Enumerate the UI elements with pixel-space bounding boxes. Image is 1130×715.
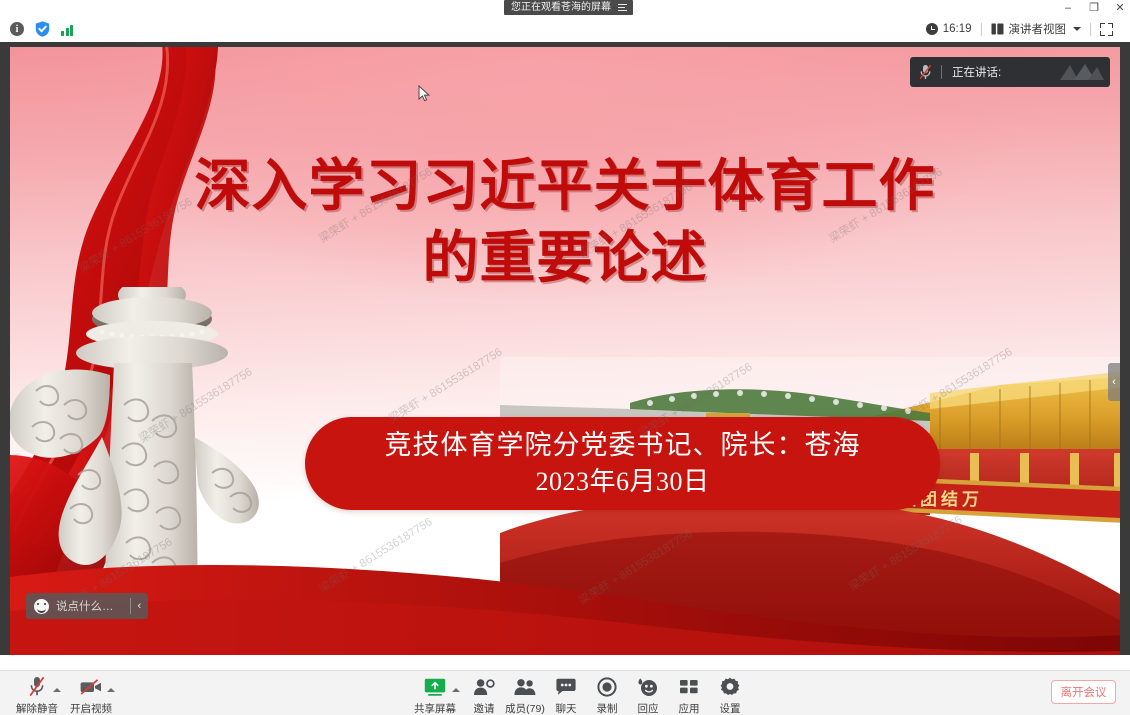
emoji-smiley-icon[interactable]	[34, 599, 49, 614]
minimize-button[interactable]: –	[1062, 0, 1074, 16]
floating-chat-input-bar[interactable]: 说点什么… ‹	[26, 593, 148, 619]
share-screen-label: 共享屏幕	[414, 701, 456, 715]
viewing-screen-label: 您正在观看苍海的屏幕	[511, 0, 611, 15]
window-titlebar: 您正在观看苍海的屏幕 – ❐ ✕	[0, 0, 1130, 16]
presentation-slide: 中华人民共和国万岁	[10, 47, 1120, 655]
view-mode-selector[interactable]: 演讲者视图	[982, 21, 1091, 37]
hamburger-menu-icon[interactable]	[618, 4, 627, 12]
invite-person-icon	[473, 675, 495, 698]
window-controls: – ❐ ✕	[1062, 0, 1126, 16]
camera-off-icon	[80, 675, 102, 698]
slide-presenter-line: 竞技体育学院分党委书记、院长：苍海	[305, 426, 940, 464]
leave-meeting-button[interactable]: 离开会议	[1051, 680, 1116, 704]
reactions-label: 回应	[638, 701, 659, 715]
settings-button[interactable]: 设置	[701, 675, 759, 715]
meeting-duration: 16:19	[917, 23, 981, 35]
active-speaker-label: 正在讲话:	[952, 64, 1001, 80]
red-fabric-sweep-decoration	[10, 515, 1120, 655]
header-left-icons: i	[0, 21, 73, 37]
divider	[941, 65, 942, 79]
meeting-info-icon[interactable]: i	[10, 22, 24, 36]
reactions-icon	[637, 675, 659, 698]
video-options-caret[interactable]	[107, 688, 115, 692]
clock-icon	[926, 23, 938, 35]
fullscreen-button[interactable]	[1091, 23, 1122, 36]
leave-meeting-label: 离开会议	[1061, 684, 1107, 700]
meeting-toolbar: 解除静音 开启视频	[0, 670, 1130, 715]
encryption-shield-icon[interactable]	[35, 21, 50, 37]
watermark: 梁荣虾 + 8615536187756	[386, 344, 505, 427]
header-right-controls: 16:19 演讲者视图	[917, 21, 1130, 37]
record-circle-icon	[597, 675, 617, 698]
chat-collapse-button[interactable]: ‹	[131, 600, 149, 612]
shared-screen-stage: 中华人民共和国万岁	[0, 42, 1130, 655]
chat-label: 聊天	[556, 701, 577, 715]
slide-title-line-1: 深入学习习近平关于体育工作	[10, 152, 1120, 224]
chevron-left-icon: ‹	[1112, 376, 1116, 388]
mic-muted-icon	[919, 64, 932, 80]
participants-icon	[513, 675, 537, 698]
unmute-button[interactable]: 解除静音	[8, 675, 66, 715]
mic-muted-icon	[29, 675, 45, 698]
view-mode-label: 演讲者视图	[1009, 21, 1067, 37]
side-panel-collapse-tab[interactable]: ‹	[1108, 363, 1120, 401]
settings-label: 设置	[720, 701, 741, 715]
slide-title-line-2: 的重要论述	[10, 224, 1120, 296]
apps-grid-icon	[679, 675, 699, 698]
slide-date-line: 2023年6月30日	[305, 464, 940, 500]
apps-label: 应用	[679, 701, 700, 715]
viewing-screen-tooltip: 您正在观看苍海的屏幕	[504, 0, 633, 15]
close-button[interactable]: ✕	[1114, 0, 1126, 16]
slide-title: 深入学习习近平关于体育工作 的重要论述	[10, 152, 1120, 295]
meeting-header-bar: i 16:19 演讲	[0, 16, 1130, 42]
start-video-button[interactable]: 开启视频	[62, 675, 120, 715]
unmute-label: 解除静音	[16, 701, 58, 715]
shared-content-frame[interactable]: 中华人民共和国万岁	[10, 47, 1120, 655]
record-label: 录制	[597, 701, 618, 715]
fullscreen-icon	[1100, 23, 1113, 36]
layout-view-icon	[991, 23, 1004, 35]
audio-options-caret[interactable]	[53, 688, 61, 692]
chevron-down-icon[interactable]	[1073, 27, 1081, 31]
restore-button[interactable]: ❐	[1088, 0, 1100, 16]
share-screen-icon	[424, 675, 446, 698]
chat-bubble-icon	[555, 675, 577, 698]
presenter-avatar-logo	[1058, 61, 1104, 83]
gear-icon	[720, 675, 740, 698]
slide-subtitle-banner: 竞技体育学院分党委书记、院长：苍海 2023年6月30日	[305, 417, 940, 510]
meeting-time-label: 16:19	[943, 23, 972, 35]
zoom-meeting-window: 您正在观看苍海的屏幕 – ❐ ✕ i 16:19	[0, 0, 1130, 715]
network-signal-icon[interactable]	[61, 23, 73, 36]
mouse-cursor	[418, 85, 430, 102]
invite-label: 邀请	[474, 701, 495, 715]
start-video-label: 开启视频	[70, 701, 112, 715]
chat-input-placeholder[interactable]: 说点什么…	[56, 598, 130, 614]
active-speaker-tile[interactable]: 正在讲话:	[910, 57, 1110, 87]
